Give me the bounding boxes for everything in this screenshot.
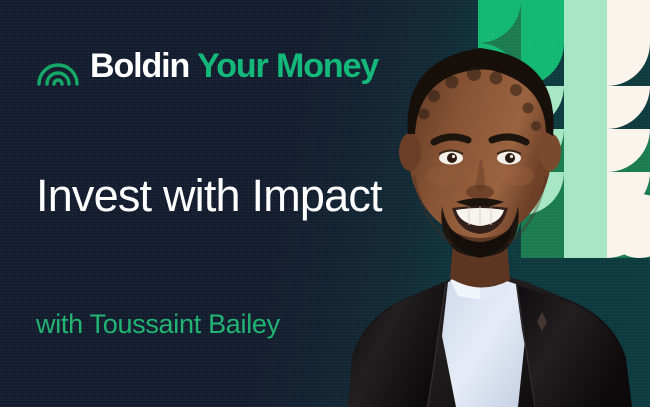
speaker-credit: with Toussaint Bailey: [36, 310, 280, 340]
brand-logo[interactable]: Boldin Your Money: [36, 46, 378, 86]
brand-tagline: Your Money: [197, 49, 378, 83]
boldin-arcs-logo-icon: [36, 46, 80, 86]
brand-wordmark: Boldin Your Money: [90, 49, 378, 83]
brand-name: Boldin: [90, 49, 189, 83]
page-title: Invest with Impact: [36, 172, 382, 219]
promo-banner: Boldin Your Money Invest with Impact wit…: [0, 0, 650, 407]
